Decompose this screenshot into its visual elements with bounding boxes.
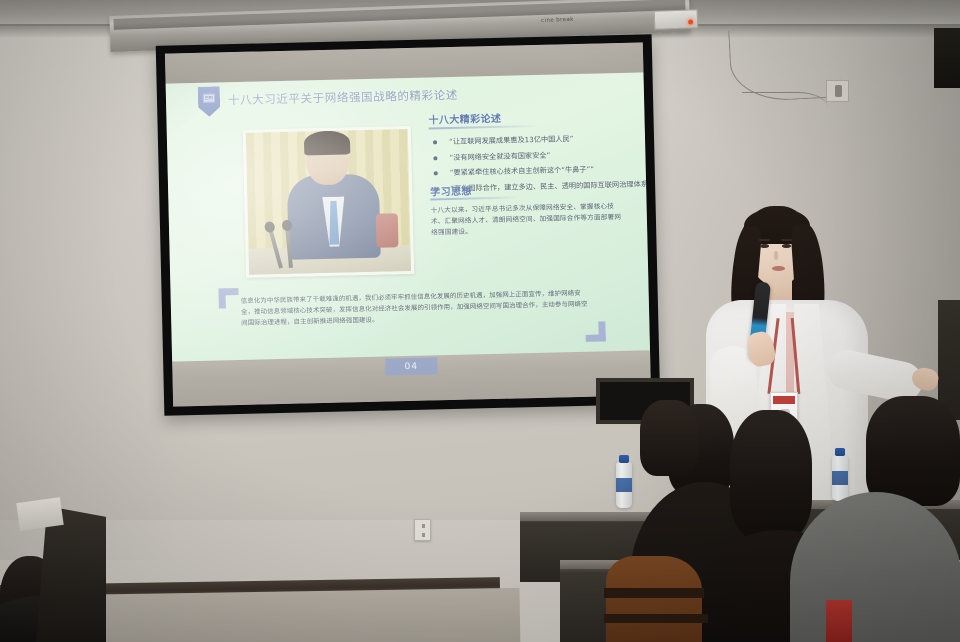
water-bottle — [832, 455, 848, 501]
projector-cable-segment — [742, 92, 828, 110]
slide-section-heading-1: 十八大精彩论述 — [428, 110, 501, 127]
photo-chair — [376, 213, 399, 248]
slide-section-paragraph: 十八大以来，习近平总书记多次从保障网络安全、掌握核心技术、汇聚网络人才、清朗网络… — [431, 201, 628, 238]
presenter-eye-right — [782, 244, 791, 248]
audience-head — [866, 396, 960, 506]
projection-screen-surface: EPI 十八大习近平关于网络强国战略的精彩论述 — [165, 42, 651, 406]
slide-quote-block: 信息化为中华民族带来了千载难逢的机遇，我们必须牢牢抓住信息化发展的历史机遇，加强… — [218, 279, 605, 350]
slide-title: 十八大习近平关于网络强国战略的精彩论述 — [228, 87, 458, 108]
projected-slide: EPI 十八大习近平关于网络强国战略的精彩论述 — [166, 72, 650, 361]
audience-head — [730, 410, 812, 540]
presenter-eye-left — [760, 244, 769, 248]
slide-bullet-item: “要紧紧牵住核心技术自主创新这个“牛鼻子”” — [430, 164, 630, 178]
wall-shading-left — [0, 0, 180, 560]
power-led-icon — [688, 19, 693, 24]
slide-bullet-item: “没有网络安全就没有国家安全” — [429, 148, 629, 162]
audience-shoulders-orange — [606, 556, 702, 642]
quote-corner-top-left — [218, 288, 238, 308]
wall-junction-plate — [826, 80, 849, 102]
quote-corner-bottom-right — [585, 321, 605, 341]
wall-outlet — [414, 519, 431, 541]
presenter-mouth — [772, 266, 785, 271]
presenter-eyebrow-left — [759, 239, 770, 241]
projection-screen-frame: EPI 十八大习近平关于网络强国战略的精彩论述 — [156, 34, 661, 416]
wall-speaker-upper — [934, 28, 960, 88]
audience-head — [640, 400, 698, 476]
photo-figure-hair — [304, 130, 351, 155]
slide-photo — [243, 126, 414, 278]
screen-control-box[interactable] — [654, 9, 699, 30]
presentation-room-photo: cine break EPI 十八大习近平关于网络强国战略的精彩论述 — [0, 0, 960, 642]
slide-section-heading-2: 学习思想 — [430, 182, 472, 198]
polo-stripe-accent — [826, 600, 852, 642]
slide-page-number-badge: 04 — [385, 357, 437, 375]
presenter-eyebrow-right — [781, 239, 792, 241]
slide-quote-text: 信息化为中华民族带来了千载难逢的机遇，我们必须牢牢抓住信息化发展的历史机遇，加强… — [241, 288, 590, 329]
slide-logo-glyph: EPI — [203, 94, 215, 103]
presenter-nose — [774, 251, 778, 260]
slide-bullet-item: “让互联网发展成果惠及13亿中国人民” — [429, 133, 629, 147]
sleeve-stripe — [604, 614, 708, 623]
photo-figure-body — [287, 174, 381, 260]
water-bottle — [616, 462, 632, 508]
housing-brand-label: cine break — [541, 17, 574, 24]
sleeve-stripe — [604, 588, 704, 598]
slide-logo-shield-icon: EPI — [198, 86, 221, 117]
